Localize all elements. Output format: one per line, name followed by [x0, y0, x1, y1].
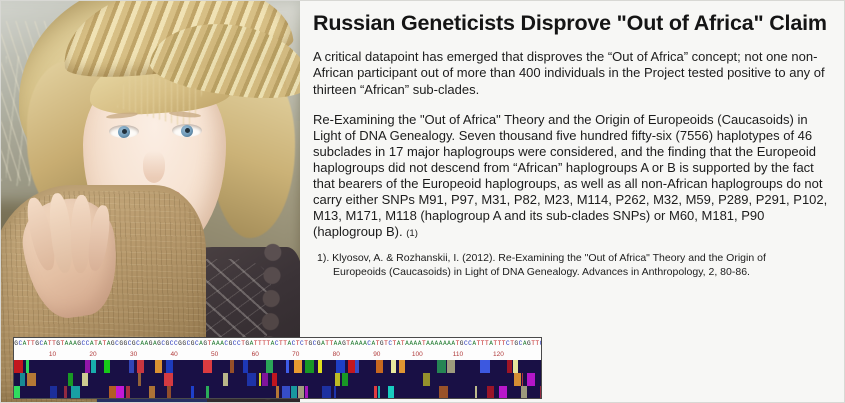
tick-label-120: 120	[493, 349, 504, 360]
page-title: Russian Geneticists Disprove "Out of Afr…	[313, 11, 836, 36]
tick-label-70: 70	[292, 349, 299, 360]
article-card: Russian Geneticists Disprove "Out of Afr…	[0, 0, 845, 403]
sequence-position-ticks: 102030405060708090100110120	[14, 349, 541, 360]
dna-chromatogram: GCATTGCATTGTAAAGCCATATAGCGGCGCAAGAGCGCCG…	[13, 337, 542, 399]
tick-label-60: 60	[252, 349, 259, 360]
footnote-marker: (1)	[406, 228, 418, 239]
nose	[143, 151, 165, 183]
trace-bands-2	[14, 373, 541, 386]
tick-label-40: 40	[171, 349, 178, 360]
trace-row-3	[14, 386, 541, 399]
reference-citation: 1). Klyosov, A. & Rozhanskii, I. (2012).…	[317, 252, 814, 279]
tick-label-100: 100	[412, 349, 423, 360]
sequence-bases: GCATTGCATTGTAAAGCCATATAGCGGCGCAAGAGCGCCG…	[14, 338, 541, 349]
tick-label-30: 30	[130, 349, 137, 360]
trace-bands-1	[14, 360, 541, 373]
tick-label-110: 110	[453, 349, 463, 360]
tick-label-80: 80	[333, 349, 340, 360]
sequence-header: GCATTGCATTGTAAAGCCATATAGCGGCGCAAGAGCGCCG…	[14, 338, 541, 360]
tick-label-20: 20	[89, 349, 96, 360]
pupil-left	[122, 129, 127, 134]
tick-label-10: 10	[49, 349, 56, 360]
tick-label-50: 50	[211, 349, 218, 360]
pupil-right	[185, 128, 190, 133]
body-paragraph-text: Re-Examining the "Out of Africa" Theory …	[313, 112, 827, 240]
trace-bands-3	[14, 386, 541, 399]
trace-row-1	[14, 360, 541, 373]
tick-label-90: 90	[373, 349, 380, 360]
trace-row-2	[14, 373, 541, 386]
lead-paragraph: A critical datapoint has emerged that di…	[313, 49, 836, 97]
body-paragraph: Re-Examining the "Out of Africa" Theory …	[313, 112, 836, 243]
